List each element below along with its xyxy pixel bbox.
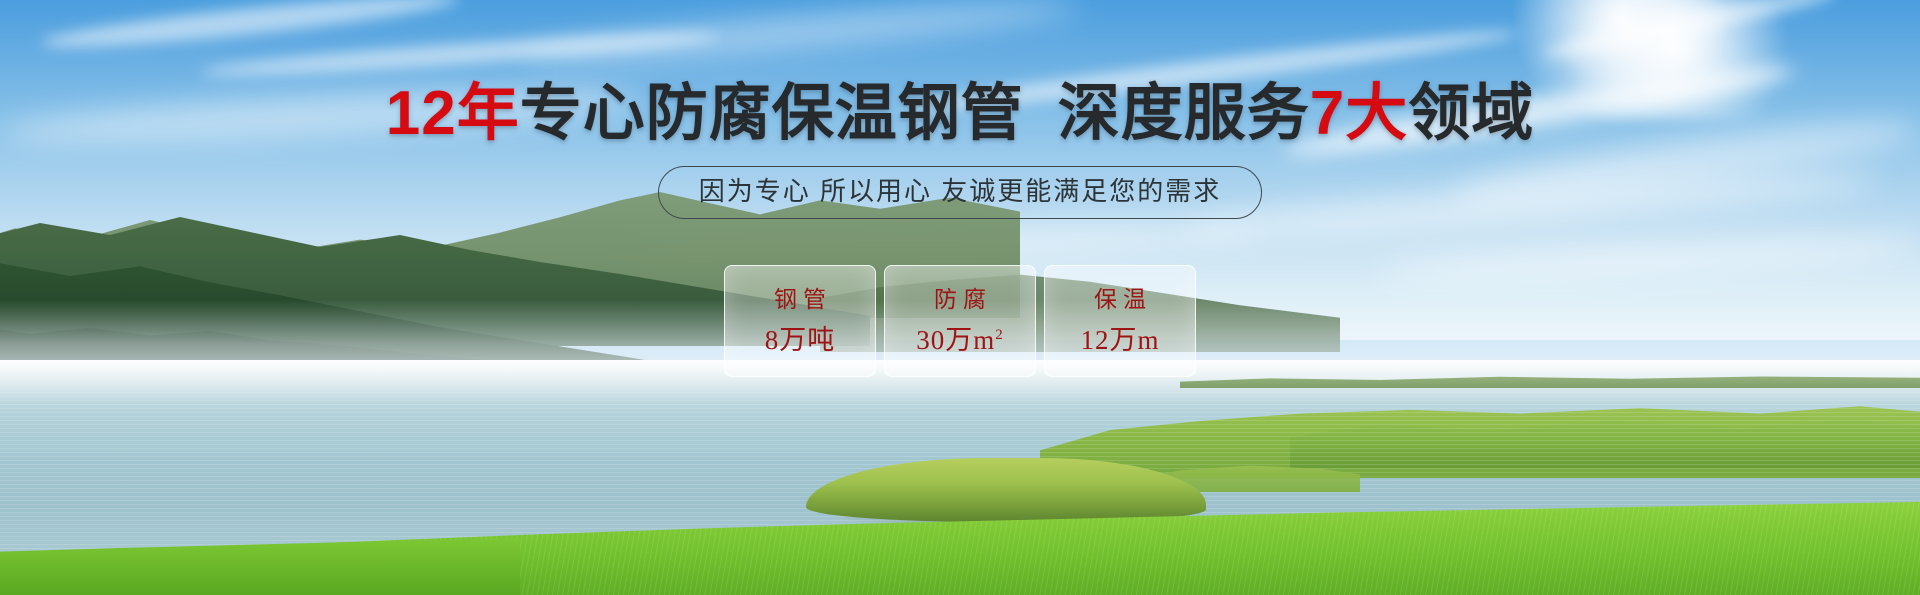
subtitle-pill: 因为专心 所以用心 友诚更能满足您的需求 <box>658 166 1262 219</box>
headline-seven-fields: 7大 <box>1310 79 1408 148</box>
stat-card-value: 12万m <box>1080 327 1159 354</box>
headline-service: 深度服务 <box>1058 79 1310 148</box>
stat-card-value-text: 8万吨 <box>765 325 836 355</box>
stat-card-value: 30万m2 <box>916 327 1004 354</box>
stat-card-label: 钢管 <box>768 288 832 311</box>
headline-specialty: 专心防腐保温钢管 <box>520 79 1024 148</box>
stat-card-value: 8万吨 <box>765 327 836 354</box>
headline-years: 12年 <box>386 79 520 148</box>
stat-card-label: 保温 <box>1088 288 1152 311</box>
stat-card-anticorrosion[interactable]: 防腐 30万m2 <box>884 265 1036 377</box>
stat-card-label: 防腐 <box>928 288 992 311</box>
headline: 12年专心防腐保温钢管深度服务7大领域 <box>0 83 1920 145</box>
promo-banner: 12年专心防腐保温钢管深度服务7大领域 因为专心 所以用心 友诚更能满足您的需求… <box>0 0 1920 595</box>
stat-cards: 钢管 8万吨 防腐 30万m2 保温 12万m <box>0 265 1920 377</box>
headline-fields: 领域 <box>1408 79 1534 148</box>
subtitle-container: 因为专心 所以用心 友诚更能满足您的需求 <box>0 166 1920 219</box>
stat-card-value-superscript: 2 <box>995 327 1004 343</box>
stat-card-steel-pipe[interactable]: 钢管 8万吨 <box>724 265 876 377</box>
stat-card-insulation[interactable]: 保温 12万m <box>1044 265 1196 377</box>
stat-card-value-text: 12万m <box>1080 325 1159 355</box>
stat-card-value-text: 30万m <box>916 325 995 355</box>
